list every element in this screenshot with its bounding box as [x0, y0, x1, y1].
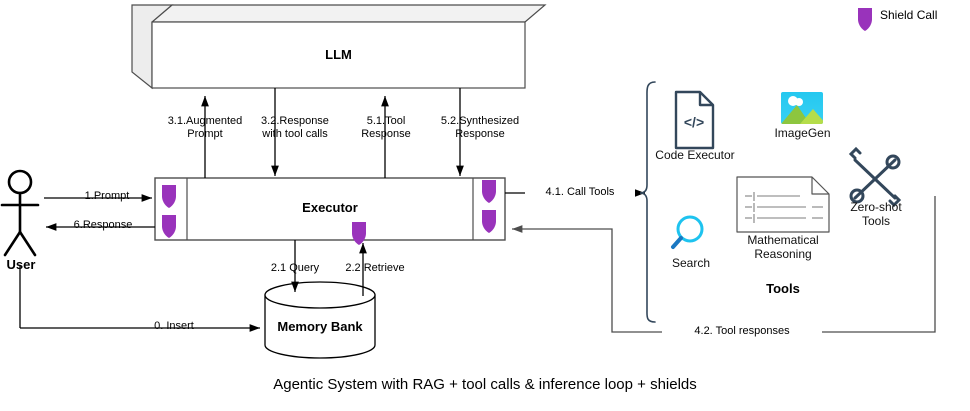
diagram-vector-layer: </>	[0, 0, 970, 411]
edge-0-insert	[20, 265, 260, 328]
tools-group-label: Tools	[736, 282, 830, 295]
svg-text:</>: </>	[684, 114, 704, 130]
llm-node-label: LLM	[152, 48, 525, 61]
user-actor-icon	[2, 171, 38, 255]
edge-label-4-2-tool-responses: 4.2. Tool responses	[662, 325, 822, 338]
tool-label-imagegen[interactable]: ImageGen	[765, 126, 840, 140]
tool-label-math-reasoning[interactable]: Mathematical Reasoning	[733, 233, 833, 261]
edge-label-3-2-line2: with tool calls	[262, 128, 327, 140]
edge-label-4-1-call-tools: 4.1. Call Tools	[525, 186, 635, 199]
magnifier-icon	[673, 217, 702, 247]
formula-document-icon	[737, 177, 829, 232]
executor-node-label: Executor	[187, 201, 473, 214]
edge-label-5-1-tool-response: 5.1.Tool Response	[340, 115, 432, 141]
user-actor-label: User	[0, 258, 42, 271]
edge-label-2-2-retrieve: 2.2 Retrieve	[325, 262, 425, 275]
diagram-canvas: </>	[0, 0, 970, 411]
edge-label-6-response: 6.Response	[48, 219, 158, 232]
image-picture-icon	[781, 92, 826, 124]
crossed-wrenches-icon	[851, 149, 899, 205]
edge-label-3-2-response-tool-calls: 3.2.Response with tool calls	[235, 115, 355, 141]
edge-label-3-2-line1: 3.2.Response	[261, 115, 329, 127]
edge-label-5-2-synthesized-response: 5.2.Synthesized Response	[424, 115, 536, 141]
tool-label-zeroshot-line2: Tools	[862, 214, 890, 228]
tool-label-math-line2: Reasoning	[754, 247, 811, 261]
shield-icon-memory-retrieve	[352, 222, 366, 245]
tool-label-search[interactable]: Search	[660, 256, 722, 270]
edge-label-3-1-line2: Prompt	[187, 128, 222, 140]
memory-bank-node-label: Memory Bank	[265, 320, 375, 333]
edge-label-3-1-line1: 3.1.Augmented	[168, 115, 243, 127]
legend-shield-call-label: Shield Call	[880, 9, 970, 22]
edge-label-5-1-line1: 5.1.Tool	[367, 115, 406, 127]
tool-label-zeroshot-line1: Zero-shot	[850, 200, 901, 214]
code-document-icon: </>	[676, 92, 713, 148]
tool-label-zero-shot-tools[interactable]: Zero-shot Tools	[840, 200, 912, 228]
tools-group-brace	[640, 82, 655, 322]
edge-label-5-2-line2: Response	[455, 128, 505, 140]
diagram-caption: Agentic System with RAG + tool calls & i…	[0, 376, 970, 393]
edge-label-5-1-line2: Response	[361, 128, 411, 140]
edge-label-0-insert: 0. Insert	[84, 320, 264, 333]
edge-label-1-prompt: 1.Prompt	[57, 190, 157, 203]
tool-label-math-line1: Mathematical	[747, 233, 818, 247]
tool-label-code-executor[interactable]: Code Executor	[640, 148, 750, 162]
shield-icon-legend	[858, 8, 872, 31]
edge-label-5-2-line1: 5.2.Synthesized	[441, 115, 519, 127]
